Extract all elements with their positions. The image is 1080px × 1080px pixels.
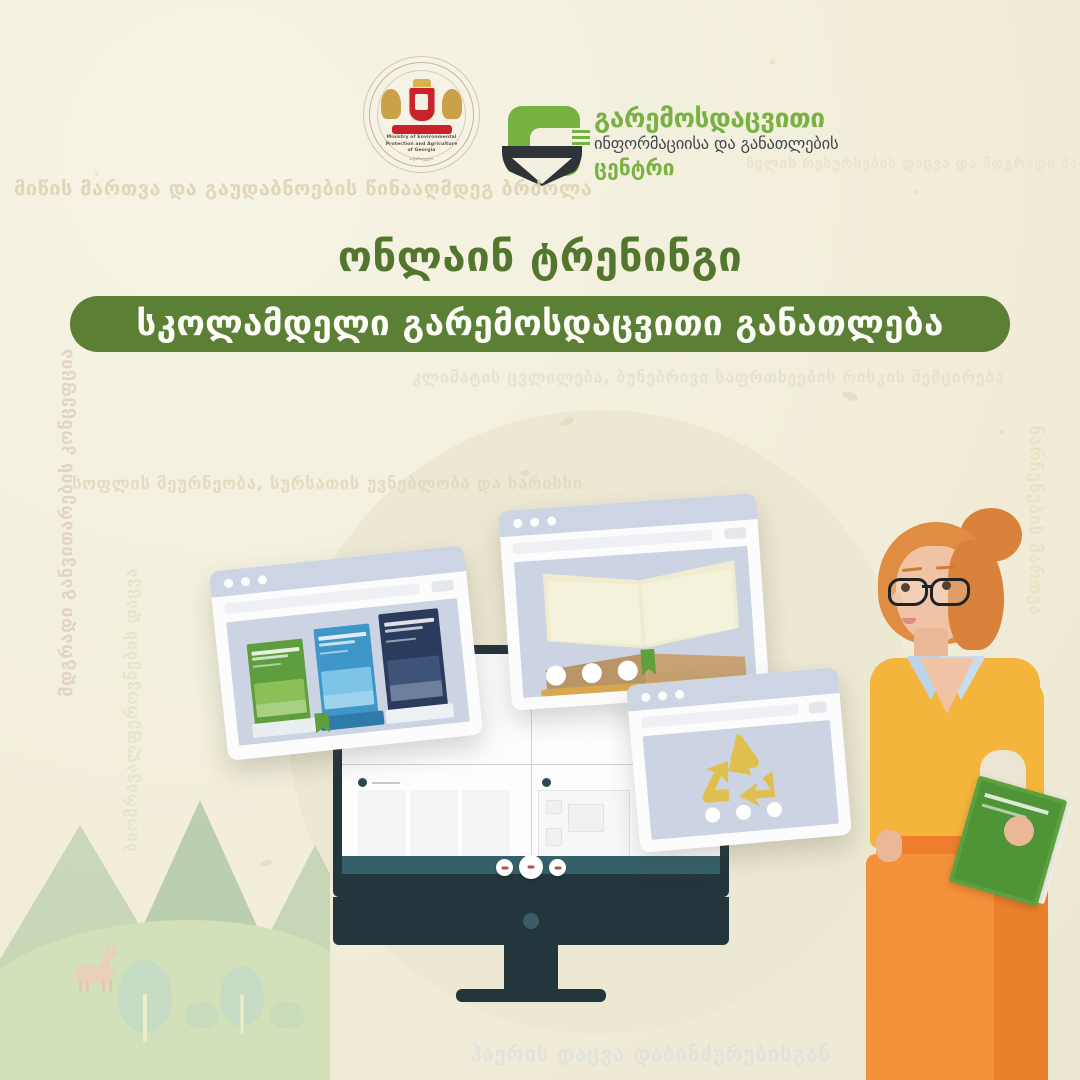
paper-flake — [841, 389, 859, 403]
window-dot-icon[interactable] — [257, 575, 267, 585]
window-dot-icon[interactable] — [675, 690, 685, 700]
bush-icon — [270, 1002, 304, 1028]
monitor-stand-base — [456, 989, 606, 1002]
watermark-agriculture: სოფლის მეურნეობა, სურსათის უვნებლობა და … — [72, 474, 583, 494]
book-cover-green — [247, 638, 312, 729]
emblem-caption-sub: საქართველო — [364, 157, 479, 161]
tree-icon — [220, 966, 264, 1025]
logo-bars-icon — [572, 130, 590, 148]
window-content — [226, 598, 470, 746]
window-dot-icon[interactable] — [513, 519, 523, 529]
poster-canvas: Ministry of Environmental Protection and… — [0, 0, 1080, 1080]
bush-icon — [185, 1002, 219, 1028]
browser-window-recycle[interactable] — [626, 667, 852, 853]
teacher-character — [852, 500, 1080, 1080]
emblem-caption-line3: of Georgia — [364, 148, 479, 155]
dot-icon — [705, 807, 721, 823]
dot-icon — [766, 801, 782, 817]
eye — [901, 583, 910, 592]
watermark-land: მიწის მართვა და გაუდაბნოების წინააღმდეგ … — [14, 176, 592, 200]
window-dot-icon[interactable] — [641, 693, 651, 703]
ribbon-icon — [392, 125, 452, 134]
tree-icon — [118, 960, 172, 1032]
book-cover-blue — [313, 623, 379, 722]
dot-icon — [581, 662, 602, 683]
ministry-emblem: Ministry of Environmental Protection and… — [363, 56, 480, 173]
eye — [942, 581, 951, 590]
title-banner-label: სკოლამდელი გარემოსდაცვითი განათლება — [70, 296, 1010, 352]
lion-icon — [381, 89, 401, 119]
window-dot-icon[interactable] — [658, 691, 668, 701]
window-content — [643, 720, 839, 840]
window-content — [514, 546, 757, 698]
logo-text-line3: ცენტრი — [594, 156, 674, 180]
lion-icon — [442, 89, 462, 119]
watermark-sustainable-development: მდგრადი განვითარების კონცეფცია — [56, 348, 77, 697]
dot-icon — [617, 660, 638, 681]
emblem-caption: Ministry of Environmental Protection and… — [364, 135, 479, 155]
paper-speckle — [1000, 430, 1004, 434]
address-bar-button[interactable] — [431, 579, 454, 592]
shield-icon — [408, 87, 435, 122]
book-cover-navy — [378, 608, 448, 716]
page-title: ონლაინ ტრენინგი — [0, 232, 1080, 281]
camera-button[interactable] — [549, 859, 566, 876]
title-banner: სკოლამდელი გარემოსდაცვითი განათლება — [70, 296, 1010, 352]
hand — [876, 830, 902, 862]
end-call-button[interactable] — [519, 855, 543, 879]
deer-icon — [72, 952, 118, 990]
watermark-climate: კლიმატის ცვლილება, ბუნებრივი საფრთხეების… — [412, 368, 1005, 387]
browser-window-books[interactable] — [209, 545, 483, 761]
emblem-caption-line1: Ministry of Environmental — [364, 135, 479, 142]
hand — [1004, 816, 1034, 846]
window-dot-icon[interactable] — [530, 517, 540, 527]
address-bar-button[interactable] — [808, 701, 827, 714]
paper-speckle — [915, 190, 919, 194]
window-dot-icon[interactable] — [547, 516, 557, 526]
window-dot-icon[interactable] — [241, 577, 251, 587]
monitor-power-button[interactable] — [523, 913, 539, 929]
logo-text-line1: გარემოსდაცვითი — [594, 104, 825, 134]
dot-icon — [735, 804, 751, 820]
watermark-water: წყლის რესურსების დაცვა და მდგრადი მართვა — [746, 156, 1080, 172]
monitor-stand-neck — [504, 945, 558, 993]
address-bar-button[interactable] — [724, 527, 747, 540]
window-dot-icon[interactable] — [224, 578, 234, 588]
dot-icon — [545, 665, 566, 686]
mic-button[interactable] — [496, 859, 513, 876]
header: Ministry of Environmental Protection and… — [0, 48, 1080, 158]
watermark-air: ჰაერის დაცვა დაბინძურებისგან — [470, 1042, 831, 1066]
logo-text-line2: ინფორმაციისა და განათლების — [594, 134, 838, 153]
forest-scene — [0, 800, 330, 1080]
